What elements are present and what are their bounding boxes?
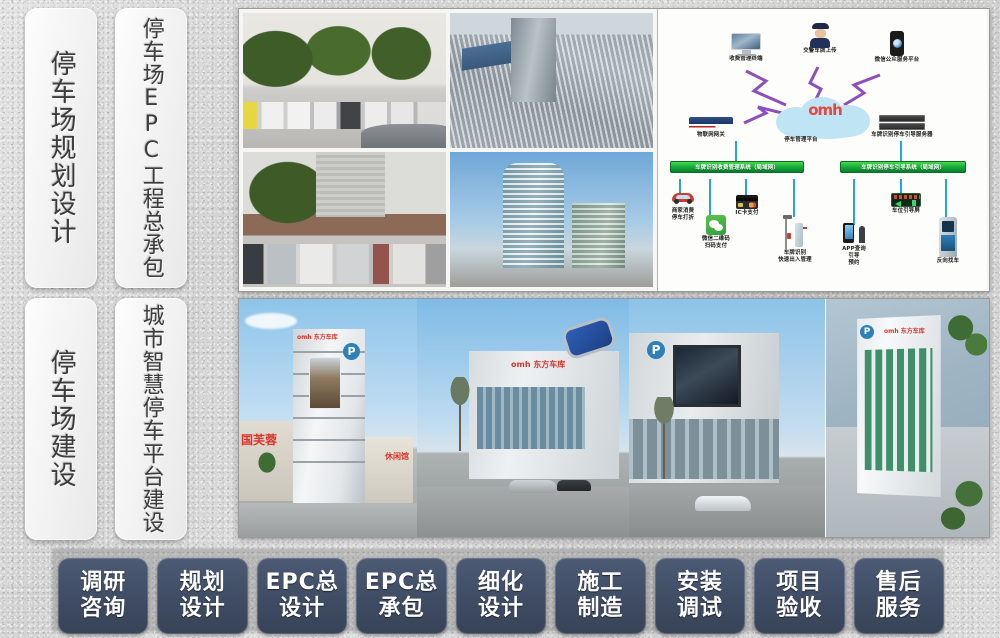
top-panel: 收费管理终端 交警车牌上传 微信公众服务平台 物联网网关 [238, 8, 990, 292]
render-wide-garage: omh 东方车库 [417, 299, 629, 537]
diagram-leaf-ic-card-payment: IC卡支付 [728, 195, 766, 217]
process-button-label: 调研 咨询 [80, 570, 126, 622]
diagram-node-label: 物联网网关 [676, 132, 746, 139]
router-icon [689, 117, 733, 131]
diagram-node-guidance-server: 车牌识别停车引导服务器 [854, 115, 950, 139]
service-card-label: 城市智慧停车平台建设 [138, 304, 164, 534]
process-button-label: 售后 服务 [876, 570, 922, 622]
diagram-leaf-label: 反向找车 [928, 258, 968, 265]
cloud-brand-label: omh [808, 101, 842, 119]
process-button-epc-overall-design[interactable]: EPC总 设计 [257, 558, 347, 634]
diagram-node-toll-terminal: 收费管理终端 [714, 33, 778, 63]
service-card-label: 停车场EPC工程总承包 [138, 17, 164, 279]
process-button-planning-design[interactable]: 规划 设计 [157, 558, 247, 634]
process-button-after-sales-service[interactable]: 售后 服务 [854, 558, 944, 634]
ic-card-icon [736, 195, 758, 209]
server-icon [879, 115, 925, 131]
process-button-installation-commissioning[interactable]: 安装 调试 [655, 558, 745, 634]
diagram-leaf-label: 车位引导屏 [886, 208, 926, 215]
diagram-leaf-label: APP查询 引导 预约 [834, 246, 874, 266]
police-officer-icon [810, 23, 830, 47]
system-architecture-diagram: 收费管理终端 交警车牌上传 微信公众服务平台 物联网网关 [657, 9, 987, 291]
slide-canvas: 停车场规划设计 停车场EPC工程总承包 停车场建设 城市智慧停车平台建设 [0, 0, 1000, 638]
service-card-smart-city-parking-platform[interactable]: 城市智慧停车平台建设 [115, 298, 187, 540]
led-guidance-screen-icon [891, 193, 921, 207]
diagram-bar-label: 车牌识别停车引导系统（局域网） [861, 163, 945, 171]
render-led-facade: P [629, 299, 825, 537]
process-button-label: EPC总 承包 [365, 570, 438, 622]
self-service-kiosk-icon [939, 217, 957, 257]
process-button-project-acceptance[interactable]: 项目 验收 [754, 558, 844, 634]
diagram-leaf-app-query-booking: APP查询 引导 预约 [834, 223, 874, 266]
service-card-label: 停车场规划设计 [46, 50, 76, 246]
diagram-node-traffic-police: 交警车牌上传 [792, 23, 848, 55]
diagram-node-label: 收费管理终端 [714, 56, 778, 63]
smartphone-icon [890, 31, 904, 56]
diagram-leaf-wechat-qr-payment: 微信二维码 扫码支付 [692, 215, 740, 250]
monitor-icon [731, 33, 761, 55]
parking-p-mark: P [343, 343, 360, 360]
diagram-leaf-reverse-car-finding: 反向找车 [928, 217, 968, 265]
process-button-construction-mfg[interactable]: 施工 制造 [555, 558, 645, 634]
process-button-row: 调研 咨询 规划 设计 EPC总 设计 EPC总 承包 细化 设计 施工 制造 … [58, 558, 944, 634]
diagram-bar-lpr-guidance-system: 车牌识别停车引导系统（局域网） [840, 161, 966, 173]
render-brand-label: omh 东方车库 [884, 326, 925, 335]
service-card-label: 停车场建设 [46, 349, 76, 489]
wechat-icon [706, 215, 726, 235]
diagram-node-label: 交警车牌上传 [792, 48, 848, 55]
car-icon [672, 193, 694, 207]
parking-p-mark: P [647, 341, 665, 359]
parking-p-mark: P [860, 325, 874, 339]
service-card-parking-planning-design[interactable]: 停车场规划设计 [25, 8, 97, 288]
process-button-label: 细化 设计 [478, 570, 524, 622]
site-photo-1 [243, 13, 446, 148]
site-photo-3 [243, 152, 446, 287]
diagram-bar-label: 车牌识别收费管理系统（局域网） [695, 163, 779, 171]
site-photo-2 [450, 13, 653, 148]
barrier-gate-icon [783, 215, 807, 249]
render-sign-left: 国芙蓉 [241, 431, 277, 448]
process-button-label: 施工 制造 [577, 570, 623, 622]
service-card-parking-epc-general-contracting[interactable]: 停车场EPC工程总承包 [115, 8, 187, 288]
process-button-label: 项目 验收 [776, 570, 822, 622]
process-button-epc-contracting[interactable]: EPC总 承包 [356, 558, 446, 634]
app-phone-icon [843, 223, 865, 245]
diagram-node-parking-platform: 停车管理平台 [756, 137, 846, 144]
process-button-label: 安装 调试 [677, 570, 723, 622]
render-brand-label: omh 东方车库 [511, 359, 565, 370]
process-button-detailed-design[interactable]: 细化 设计 [456, 558, 546, 634]
process-button-survey-consulting[interactable]: 调研 咨询 [58, 558, 148, 634]
render-aerial-tower: P omh 东方车库 [825, 299, 989, 537]
diagram-node-label: 车牌识别停车引导服务器 [854, 132, 950, 139]
architectural-render-panel: omh 东方车库 P 国芙蓉 休闲馆 omh 东方车库 P [238, 298, 990, 538]
service-card-parking-construction[interactable]: 停车场建设 [25, 298, 97, 540]
diagram-leaf-label: 车牌识别 快速出入管理 [770, 250, 820, 264]
diagram-node-iot-gateway: 物联网网关 [676, 117, 746, 139]
diagram-leaf-space-guidance-screen: 车位引导屏 [886, 193, 926, 215]
render-tall-garage: omh 东方车库 P 国芙蓉 休闲馆 [239, 299, 417, 537]
diagram-leaf-lpr-fast-access: 车牌识别 快速出入管理 [770, 215, 820, 264]
diagram-bar-lpr-toll-system: 车牌识别收费管理系统（局域网） [670, 161, 804, 173]
process-button-label: EPC总 设计 [265, 570, 338, 622]
process-button-label: 规划 设计 [180, 570, 226, 622]
diagram-node-wechat-platform: 微信公众服务平台 [864, 31, 930, 64]
render-sign-right: 休闲馆 [385, 451, 409, 462]
site-photo-4 [450, 152, 653, 287]
diagram-node-label: 停车管理平台 [756, 137, 846, 144]
diagram-leaf-label: 微信二维码 扫码支付 [692, 236, 740, 250]
render-brand-label: omh 东方车库 [297, 332, 338, 341]
parking-site-photo-grid [239, 9, 657, 291]
diagram-node-label: 微信公众服务平台 [864, 57, 930, 64]
